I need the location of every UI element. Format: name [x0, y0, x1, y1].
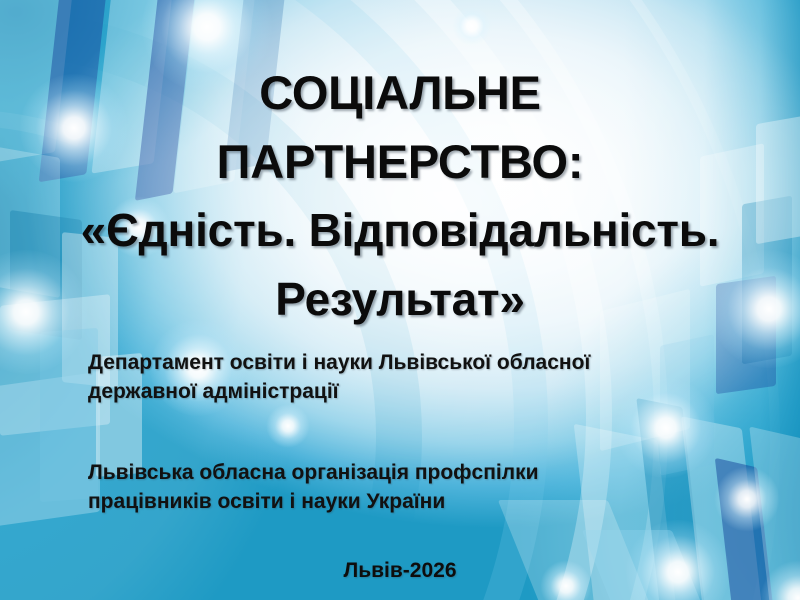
slide-footer: Львів-2026	[0, 557, 800, 584]
footer-city-year: Львів-2026	[0, 557, 800, 584]
department-line-1: Департамент освіти і науки Львівської об…	[88, 348, 760, 377]
title-line-3: «Єдність. Відповідальність.	[0, 196, 800, 265]
trade-union-line-1: Львівська обласна організація профспілки	[88, 458, 760, 487]
presentation-slide: СОЦІАЛЬНЕ ПАРТНЕРСТВО: «Єдність. Відпові…	[0, 0, 800, 600]
organization-block-trade-union: Львівська обласна організація профспілки…	[88, 458, 760, 516]
trade-union-line-2: працівників освіти і науки України	[88, 487, 760, 516]
department-line-2: державної адміністрації	[88, 377, 760, 406]
organization-block-department: Департамент освіти і науки Львівської об…	[88, 348, 760, 406]
slide-title: СОЦІАЛЬНЕ ПАРТНЕРСТВО: «Єдність. Відпові…	[0, 58, 800, 334]
title-line-4: Результат»	[0, 265, 800, 334]
title-line-2: ПАРТНЕРСТВО:	[0, 127, 800, 196]
slide-content: СОЦІАЛЬНЕ ПАРТНЕРСТВО: «Єдність. Відпові…	[0, 0, 800, 600]
title-line-1: СОЦІАЛЬНЕ	[0, 58, 800, 127]
